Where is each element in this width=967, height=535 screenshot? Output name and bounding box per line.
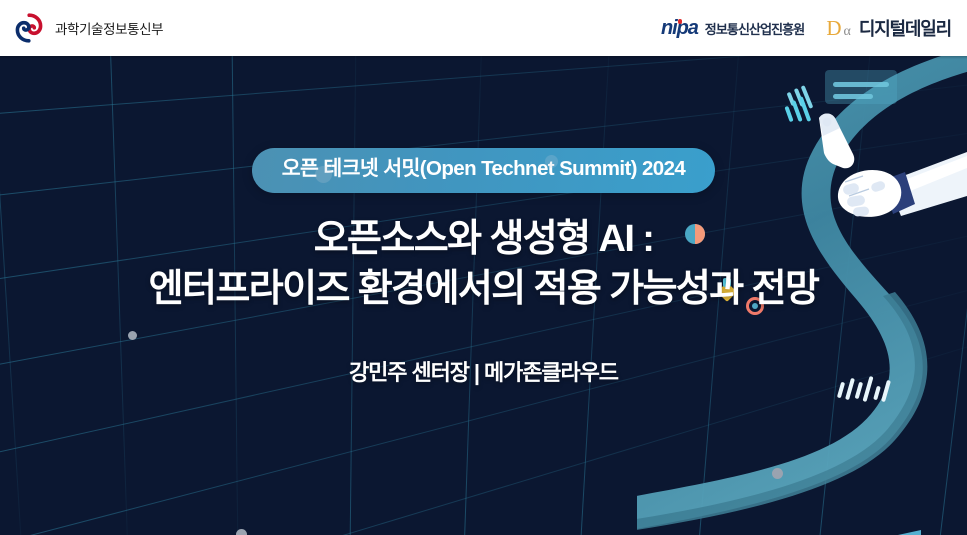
header-shadow [0,56,967,59]
header-bar: 과학기술정보통신부 nipa 정보통신산업진흥원 D α 디지털데일리 [0,0,967,56]
ministry-name: 과학기술정보통신부 [55,18,163,38]
decorative-dot-soft [315,166,332,183]
partner-logos: nipa 정보통신산업진흥원 D α 디지털데일리 [661,15,951,41]
nipa-name: 정보통신산업진흥원 [705,19,805,38]
bar-spark-icon [787,85,814,109]
page-title: 오픈소스와 생성형 AI : 엔터프라이즈 환경에서의 적용 가능성과 전망 [149,214,819,315]
title-line-1: 오픈소스와 생성형 AI : [149,214,819,265]
network-graph-card-icon [861,530,921,535]
ddaily-logo-icon: D α 디지털데일리 [826,15,951,41]
decorative-dot [236,529,247,535]
ddaily-mark-d: D [826,18,841,39]
slide-canvas: 오픈 테크넷 서밋(Open Technet Summit) 2024 오픈소스… [0,0,967,535]
decorative-dot-soft [545,155,558,168]
korea-government-taegeuk-icon [14,13,44,43]
decorative-dot [772,468,783,479]
speaker-line: 강민주 센터장 | 메가존클라우드 [349,355,618,387]
decorative-dot [128,331,137,340]
bar-spark-icon [837,376,891,402]
nipa-logo-icon: nipa 정보통신산업진흥원 [661,18,804,38]
top-right-panel [825,70,897,104]
nipa-red-dot-icon [678,19,683,24]
ministry-brand: 과학기술정보통신부 [14,13,163,43]
title-line-2: 엔터프라이즈 환경에서의 적용 가능성과 전망 [149,264,819,315]
ddaily-mark-alpha: α [843,25,850,39]
ddaily-name: 디지털데일리 [859,15,951,41]
